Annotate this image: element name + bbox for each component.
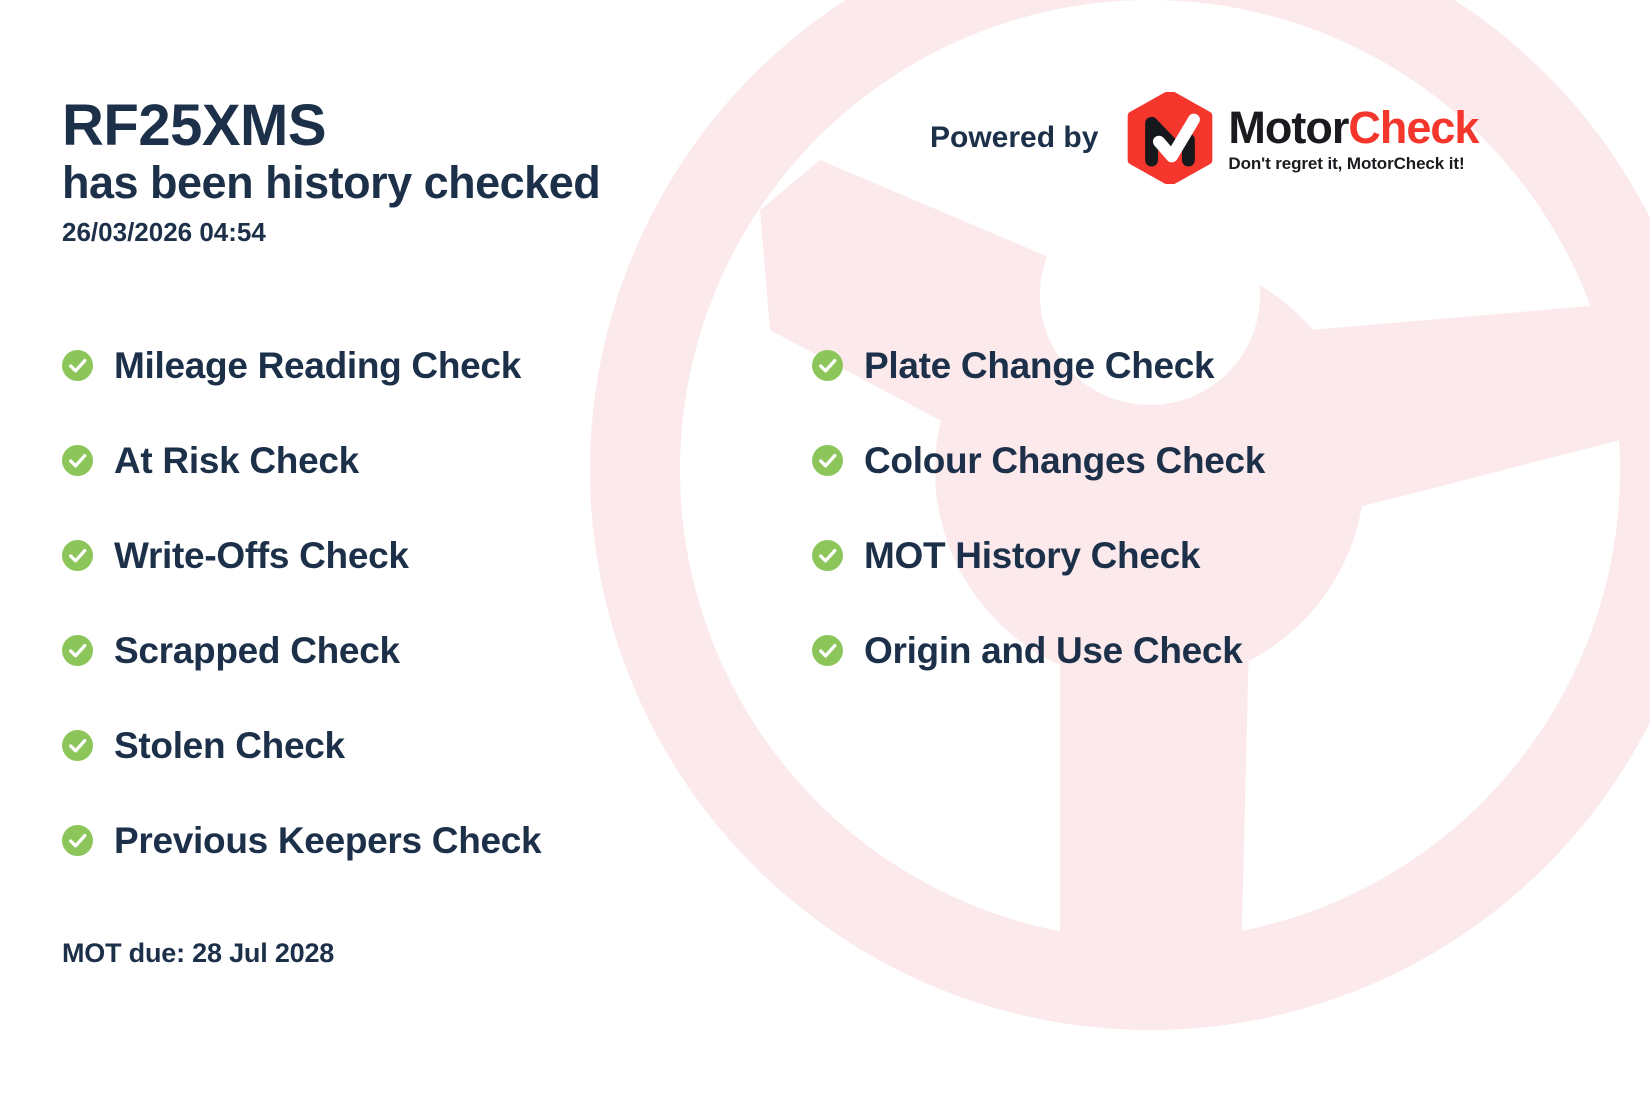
check-item-label: Colour Changes Check: [864, 442, 1265, 479]
check-circle-icon: [62, 635, 93, 666]
motorcheck-wordmark: MotorCheck Don't regret it, MotorCheck i…: [1228, 105, 1478, 172]
page-title: has been history checked: [62, 158, 822, 208]
check-item: Colour Changes Check: [812, 413, 1542, 508]
motorcheck-logo[interactable]: MotorCheck Don't regret it, MotorCheck i…: [1124, 92, 1478, 184]
checks-grid: Mileage Reading Check At Risk Check Writ…: [62, 318, 1542, 888]
wordmark-text: MotorCheck: [1228, 105, 1478, 150]
check-item-label: Write-Offs Check: [114, 537, 409, 574]
check-item-label: Plate Change Check: [864, 347, 1214, 384]
check-item-label: Mileage Reading Check: [114, 347, 521, 384]
check-circle-icon: [62, 445, 93, 476]
check-item: MOT History Check: [812, 508, 1542, 603]
card-header: RF25XMS has been history checked 26/03/2…: [62, 95, 822, 248]
check-circle-icon: [62, 350, 93, 381]
wordmark-motor: Motor: [1228, 102, 1348, 153]
mot-due-text: MOT due: 28 Jul 2028: [62, 938, 334, 969]
check-circle-icon: [812, 445, 843, 476]
check-item-label: Stolen Check: [114, 727, 345, 764]
check-item-label: MOT History Check: [864, 537, 1200, 574]
powered-by-label: Powered by: [930, 121, 1098, 155]
check-item-label: Scrapped Check: [114, 632, 400, 669]
check-item: Mileage Reading Check: [62, 318, 812, 413]
registration-plate: RF25XMS: [62, 95, 822, 156]
checks-left-column: Mileage Reading Check At Risk Check Writ…: [62, 318, 812, 888]
vehicle-history-check-card: RF25XMS has been history checked 26/03/2…: [0, 0, 1650, 1100]
check-circle-icon: [62, 825, 93, 856]
check-circle-icon: [812, 350, 843, 381]
check-item: Previous Keepers Check: [62, 793, 812, 888]
wordmark-check: Check: [1348, 102, 1478, 153]
check-circle-icon: [812, 540, 843, 571]
check-item-label: Previous Keepers Check: [114, 822, 541, 859]
check-item-label: At Risk Check: [114, 442, 359, 479]
checks-right-column: Plate Change Check Colour Changes Check …: [812, 318, 1542, 888]
check-item: Plate Change Check: [812, 318, 1542, 413]
check-circle-icon: [62, 540, 93, 571]
check-circle-icon: [812, 635, 843, 666]
check-item: Scrapped Check: [62, 603, 812, 698]
check-circle-icon: [62, 730, 93, 761]
powered-by-block: Powered by MotorCheck Don't regret it, M…: [930, 92, 1478, 184]
motorcheck-hexagon-logo-icon: [1124, 92, 1216, 184]
check-item: Origin and Use Check: [812, 603, 1542, 698]
check-item: At Risk Check: [62, 413, 812, 508]
brand-tagline: Don't regret it, MotorCheck it!: [1228, 155, 1478, 172]
check-timestamp: 26/03/2026 04:54: [62, 217, 822, 248]
check-item-label: Origin and Use Check: [864, 632, 1243, 669]
check-item: Stolen Check: [62, 698, 812, 793]
check-item: Write-Offs Check: [62, 508, 812, 603]
